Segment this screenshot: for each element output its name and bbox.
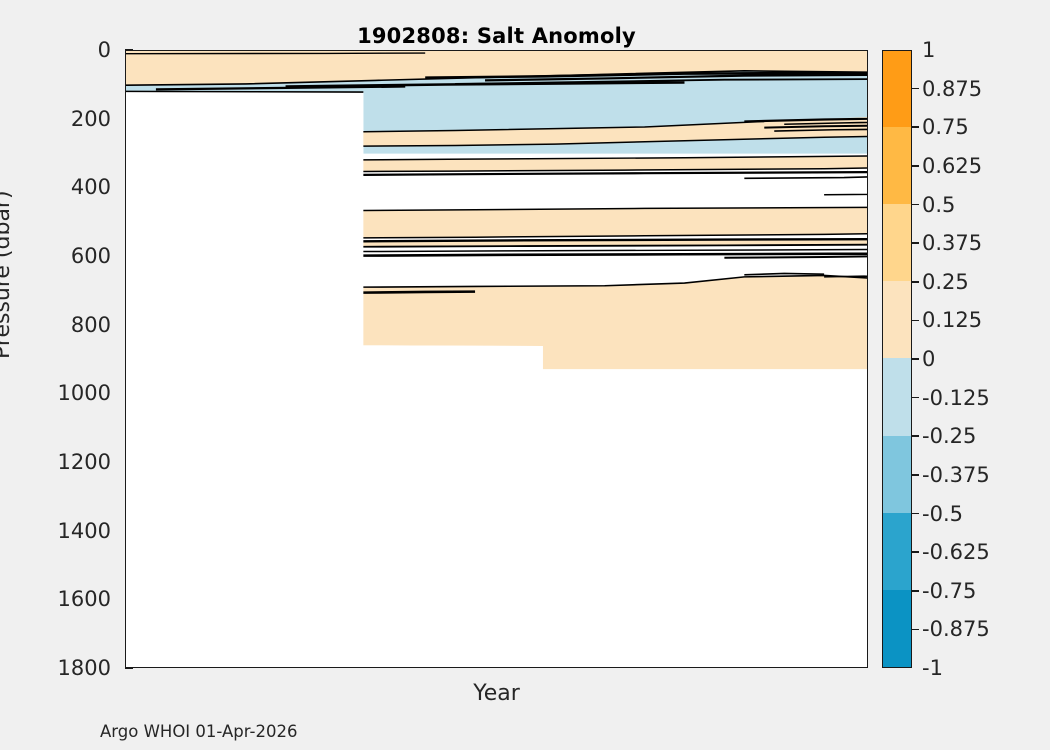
colorbar-tick-mark	[912, 165, 919, 167]
contour-line	[363, 292, 475, 293]
colorbar-tick-label: 0.375	[922, 231, 982, 255]
contour-line	[744, 273, 824, 274]
y-axis-tick-label: 1200	[0, 450, 111, 474]
colorbar-tick-label: 1	[922, 38, 935, 62]
colorbar-band	[883, 127, 911, 204]
colorbar-band	[883, 358, 911, 435]
colorbar-tick-mark	[912, 435, 919, 437]
colorbar-band	[883, 50, 911, 127]
chart-title: 1902808: Salt Anomoly	[125, 24, 868, 48]
contour-band-positive	[363, 207, 867, 238]
footer-credit: Argo WHOI 01-Apr-2026	[100, 722, 297, 741]
colorbar-tick-label: 0.875	[922, 77, 982, 101]
no-data-region	[363, 345, 867, 667]
colorbar-tick-label: -0.25	[922, 424, 976, 448]
colorbar-tick-label: 0.75	[922, 115, 969, 139]
y-axis-label: Pressure (dbar)	[0, 190, 15, 359]
colorbar-band	[883, 436, 911, 513]
colorbar-tick-mark	[912, 88, 919, 90]
colorbar-tick-label: 0.125	[922, 308, 982, 332]
no-data-region	[126, 91, 363, 667]
colorbar-band	[883, 513, 911, 590]
colorbar-tick-label: -0.375	[922, 463, 990, 487]
colorbar-tick-label: -0.125	[922, 386, 990, 410]
y-axis-tick-label: 1000	[0, 381, 111, 405]
colorbar-tick-label: -0.75	[922, 579, 976, 603]
colorbar-tick-mark	[912, 281, 919, 283]
y-axis-tick-label: 1800	[0, 656, 111, 680]
y-axis-tick-label: 0	[0, 38, 111, 62]
contour-line	[744, 177, 867, 178]
y-axis-tick-label: 1400	[0, 519, 111, 543]
colorbar-tick-label: 0.625	[922, 154, 982, 178]
colorbar-tick-label: -0.875	[922, 617, 990, 641]
contour-line	[363, 253, 867, 255]
contour-line	[363, 172, 867, 175]
colorbar-tick-mark	[912, 629, 919, 631]
contour-line	[724, 256, 867, 257]
colorbar-tick-mark	[912, 204, 919, 206]
contour-line	[126, 91, 363, 92]
contour-line	[363, 249, 867, 251]
colorbar-tick-mark	[912, 551, 919, 553]
colorbar-tick-mark	[912, 320, 919, 322]
y-axis-tick-label: 200	[0, 107, 111, 131]
colorbar-tick-label: -0.5	[922, 502, 963, 526]
figure-canvas: 1902808: Salt Anomoly 020040060080010001…	[0, 0, 1050, 750]
colorbar-tick-mark	[912, 242, 919, 244]
colorbar-band	[883, 281, 911, 358]
contour-line	[126, 53, 425, 54]
x-axis-label: Year	[125, 681, 868, 706]
colorbar-tick-label: 0	[922, 347, 935, 371]
colorbar-band	[883, 204, 911, 281]
colorbar-band	[883, 590, 911, 667]
y-axis-tick-label: 400	[0, 175, 111, 199]
colorbar-tick-mark	[912, 474, 919, 476]
y-axis-tick-label: 800	[0, 313, 111, 337]
colorbar-tick-label: 0.5	[922, 193, 955, 217]
contour-section-plot	[126, 51, 867, 667]
plot-area	[125, 50, 868, 668]
colorbar-tick-label: 0.25	[922, 270, 969, 294]
contour-line	[824, 194, 867, 195]
colorbar-tick-label: -1	[922, 656, 943, 680]
colorbar-tick-mark	[912, 358, 919, 360]
colorbar-tick-mark	[912, 590, 919, 592]
colorbar-tick-mark	[912, 397, 919, 399]
colorbar-tick-mark	[912, 513, 919, 515]
colorbar-tick-mark	[912, 126, 919, 128]
y-axis-tick-label: 600	[0, 244, 111, 268]
colorbar	[882, 50, 912, 668]
y-axis-tick-label: 1600	[0, 587, 111, 611]
colorbar-tick-label: -0.625	[922, 540, 990, 564]
